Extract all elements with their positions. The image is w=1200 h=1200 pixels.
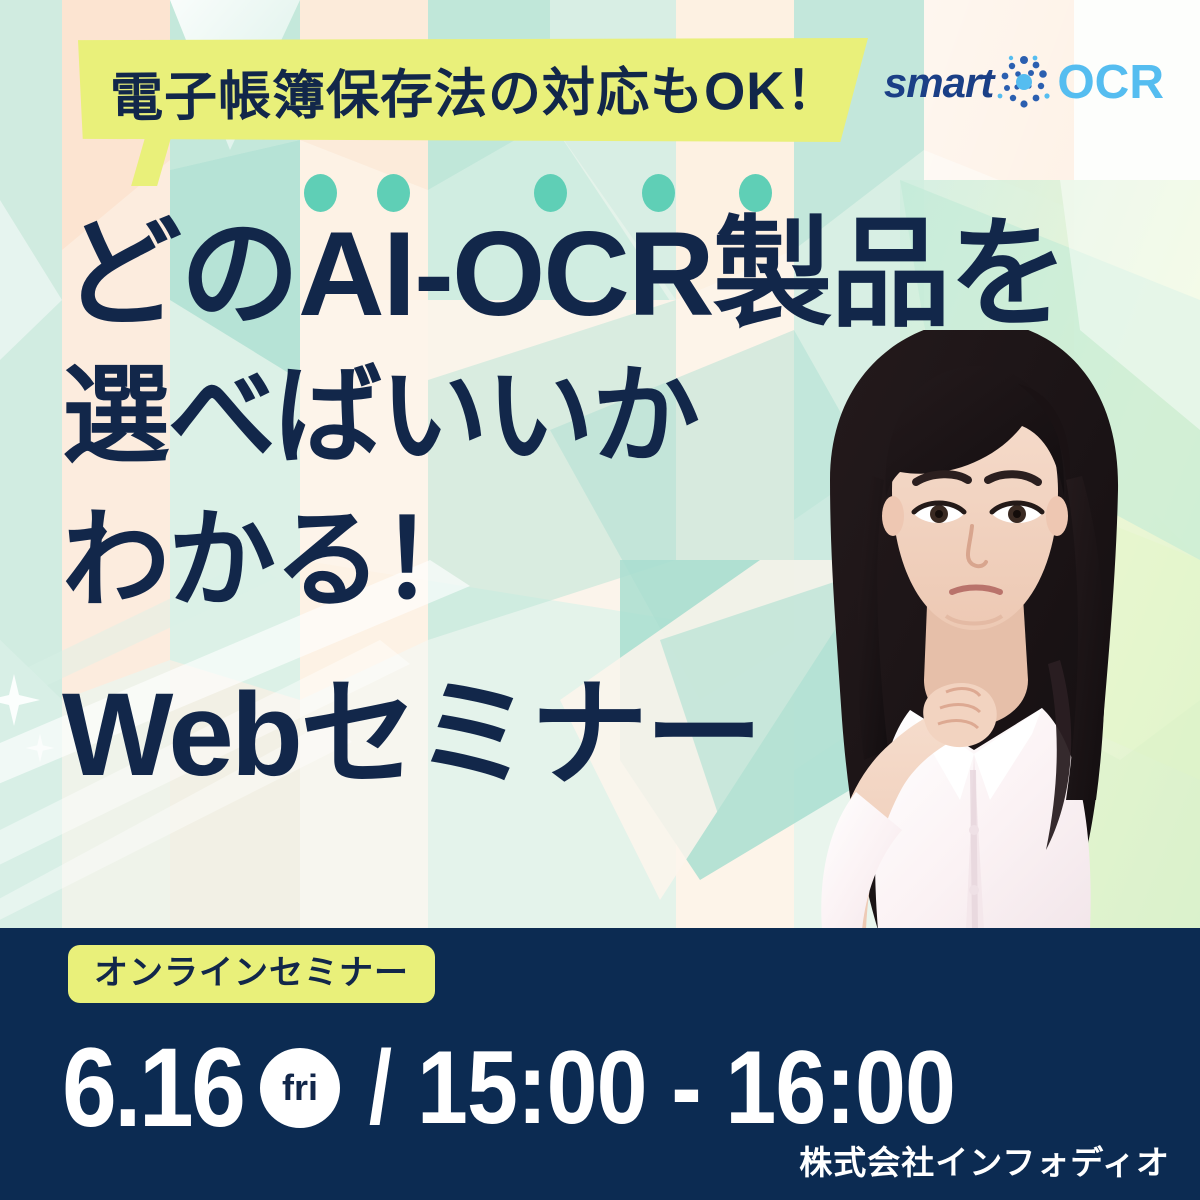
seminar-poster: 電子帳簿保存法の対応もOK！ smart [0,0,1200,1200]
headline-line-1: どのAI-OCR製品を [62,214,1182,334]
footer-band: オンラインセミナー 6.16 fri / 15:00 - 16:00 株式会社イ… [0,928,1200,1200]
headline-line-4: Webセミナー [62,676,1182,794]
headline-block: どのAI-OCR製品を 選べばいいか わかる！ Webセミナー [62,214,1182,794]
company-name: 株式会社インフォディオ [799,1146,1170,1179]
headline-line-2: 選べばいいか [62,362,1182,470]
headline-line-3: わかる！ [62,506,1182,614]
logo-brand-right: OCR [1057,59,1164,107]
ribbon-label: 電子帳簿保存法の対応もOK！ [110,48,840,132]
smart-ocr-logo[interactable]: smart [884,52,1164,114]
logo-brand-left: smart [884,62,993,104]
ribbon-body: 電子帳簿保存法の対応もOK！ [78,38,868,142]
dot-cluster-icon [991,52,1055,114]
seminar-type-badge: オンラインセミナー [68,945,435,1003]
weekday-badge: fri [260,1048,340,1128]
event-date: 6.16 [62,1032,243,1144]
date-time-row: 6.16 fri / 15:00 - 16:00 [62,1033,1172,1143]
date-time-separator: / [369,1036,392,1140]
event-time-range: 15:00 - 16:00 [417,1036,955,1140]
